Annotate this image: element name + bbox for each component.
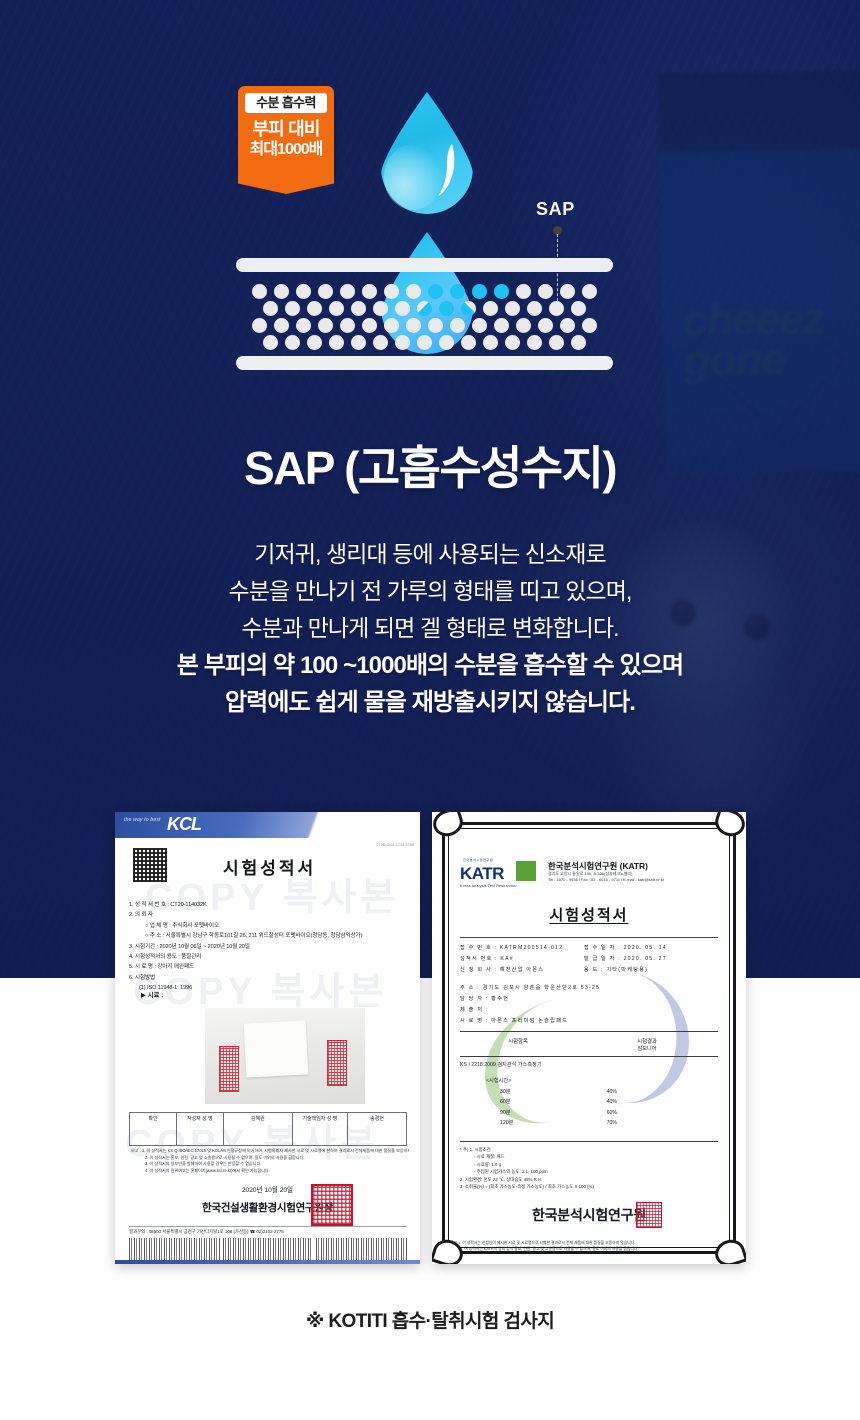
kcl-field: 6. 시험방법 bbox=[129, 973, 415, 983]
katr-footer: 비고 1. 이 성적서는 신청인이 제시한 시료 및 시료명으로 시험한 결과로… bbox=[450, 1240, 728, 1252]
kcl-note-line: 비고 : 1. 이 성적서는 KS Q ISO/IEC 17025 및 KOLA… bbox=[131, 1148, 409, 1155]
kcl-footer: 결과문의 : 08503 서울특별시 금천구 가산디지털1로 108 (가산동)… bbox=[129, 1226, 407, 1235]
katr-doc-title: 시험성적서 bbox=[460, 904, 718, 925]
sap-particle-dot bbox=[538, 318, 553, 333]
katr-signature: 한국분석시험연구원 bbox=[460, 1205, 718, 1225]
sap-particle-grid bbox=[252, 284, 604, 350]
kcl-sample-label: ▶ 시료 : bbox=[141, 990, 163, 999]
sap-particle-dot bbox=[384, 318, 399, 333]
result-value: 40% bbox=[607, 1087, 718, 1098]
sap-particle-row bbox=[252, 318, 604, 332]
time-header-label: <시험시간> bbox=[486, 1076, 607, 1087]
results-analyte: 암모니아 bbox=[576, 1045, 718, 1052]
katr-key-values: 접 수 번 호 : KATRM200514-012 접 수 일 자 : 2020… bbox=[460, 937, 718, 976]
katr-detail-row: 담 당 자 : 황수현 bbox=[460, 994, 718, 1005]
katr-kv-left: 신 청 회 사 : 해전산업 아몬스 bbox=[460, 965, 584, 976]
table-row: 90분 60% bbox=[486, 1108, 718, 1119]
katr-results-header: 시험항목 시험결과 bbox=[460, 1037, 718, 1045]
kcl-field: 3. 시험기간 : 2020년 10월 06일 ~ 2020년 10월 20일 bbox=[129, 942, 415, 952]
sap-particle-dot bbox=[516, 284, 531, 299]
sap-particle-dot bbox=[373, 335, 388, 350]
results-time-header: <시험시간> bbox=[486, 1076, 718, 1087]
katr-detail: 제 출 처 : bbox=[460, 1005, 718, 1016]
kcl-tagline: the way to best bbox=[124, 817, 161, 823]
sap-particle-dot bbox=[571, 335, 586, 350]
kcl-sample-photo bbox=[205, 1008, 365, 1104]
red-stamp-icon bbox=[219, 1046, 239, 1092]
kcl-field: 1. 성 적 서 번 호 : CT20-114032K bbox=[129, 900, 415, 910]
sap-particle-dot bbox=[494, 284, 509, 299]
sap-particle-dot bbox=[450, 284, 465, 299]
katr-kv-left: 접 수 번 호 : KATRM200514-012 bbox=[460, 943, 584, 954]
sap-particle-dot bbox=[252, 318, 267, 333]
katr-results-subheader: 암모니아 bbox=[460, 1045, 718, 1052]
description-block: 기저귀, 생리대 등에 사용되는 신소재로 수분을 만나기 전 가루의 형태를 … bbox=[0, 536, 860, 721]
sap-particle-dot bbox=[329, 335, 344, 350]
sap-particle-dot bbox=[296, 284, 311, 299]
sap-particle-dot bbox=[461, 301, 476, 316]
sap-particle-dot bbox=[340, 318, 355, 333]
table-cell: 작성자 성 명 bbox=[177, 1113, 224, 1145]
result-value: 60% bbox=[607, 1108, 718, 1119]
sap-particle-dot bbox=[285, 335, 300, 350]
pad-bottom-layer bbox=[236, 356, 613, 370]
katr-kv-row: 접 수 번 호 : KATRM200514-012 접 수 일 자 : 2020… bbox=[460, 943, 718, 954]
table-row: 120분 70% bbox=[486, 1118, 718, 1129]
sap-particle-dot bbox=[571, 301, 586, 316]
katr-logo-square-icon bbox=[516, 861, 536, 881]
sap-particle-dot bbox=[527, 301, 542, 316]
result-time: 120분 bbox=[486, 1118, 607, 1129]
sap-particle-dot bbox=[362, 318, 377, 333]
kcl-doc-code: 0798-0201-1734-5788 bbox=[377, 843, 414, 847]
katr-divider bbox=[460, 1031, 718, 1032]
sap-particle-dot bbox=[450, 318, 465, 333]
katr-note-line: 3. 소취율(%) = (최초 가스농도-측정 가스농도) / 최초 가스농도 … bbox=[460, 1183, 718, 1191]
badge-line-2: 최대1000배 bbox=[238, 140, 334, 159]
kcl-signature-table: 확인 작성자 성 명 김혜원 기술책임자 성 명 송경현 bbox=[129, 1112, 407, 1146]
katr-kv-right: 발 급 일 자 : 2020. 05. 27 bbox=[584, 954, 718, 965]
sap-particle-dot bbox=[582, 318, 597, 333]
sap-particle-dot bbox=[351, 301, 366, 316]
badge-top-label: 수분 흡수력 bbox=[245, 93, 327, 113]
sap-particle-dot bbox=[516, 318, 531, 333]
sap-particle-dot bbox=[461, 335, 476, 350]
kcl-bottom-bar bbox=[115, 1260, 420, 1264]
katr-detail-row: 시 료 명 : 아몬스 프리미엄 논슬립패드 bbox=[460, 1016, 718, 1027]
katr-detail-values: 주 소 : 경기도 김포시 양촌읍 학운산단2로 53-25 담 당 자 : 황… bbox=[460, 983, 718, 1027]
katr-kv-row: 신 청 회 사 : 해전산업 아몬스 용 도 : 기타(마케팅용) bbox=[460, 965, 718, 976]
katr-footer-line-2: 2. 이 성적서는 KATR의 동의 없이 홍보, 선전, 광고 및 소송용으로… bbox=[450, 1246, 728, 1252]
sap-particle-dot bbox=[406, 284, 421, 299]
barcode-icon bbox=[129, 1238, 220, 1260]
results-sub-blank bbox=[460, 1045, 576, 1052]
katr-address-line-2: Tel : 1670 - 9936 l Fax : 02 - 6016 - 97… bbox=[548, 877, 664, 883]
barcode-icon bbox=[223, 1238, 314, 1260]
sap-particle-row bbox=[252, 301, 604, 315]
sap-particle-dot bbox=[252, 284, 267, 299]
katr-detail-row: 제 출 처 : bbox=[460, 1005, 718, 1016]
results-col-result: 시험결과 bbox=[576, 1037, 718, 1045]
katr-logo-row: 한국분석시험연구원 KATR Korea Analysis Test Resea… bbox=[460, 858, 718, 894]
kcl-notes: 비고 : 1. 이 성적서는 KS Q ISO/IEC 17025 및 KOLA… bbox=[131, 1148, 409, 1174]
katr-kv-row: 성적서 번호 : KA# 발 급 일 자 : 2020. 05. 27 bbox=[460, 954, 718, 965]
sap-particle-dot bbox=[406, 318, 421, 333]
table-cell: 김혜원 bbox=[224, 1113, 293, 1145]
sap-particle-row bbox=[252, 335, 604, 349]
kcl-note-line: 4. 이 성적서의 진위여부는 홈페이지(www.kcl.re.kr)에서 확인… bbox=[131, 1168, 409, 1175]
description-line-5: 압력에도 쉽게 물을 재방출시키지 않습니다. bbox=[0, 684, 860, 721]
kcl-barcode-strip bbox=[129, 1238, 407, 1260]
sap-particle-dot bbox=[560, 284, 575, 299]
page-title: SAP (고흡수성수지) bbox=[0, 432, 860, 498]
sap-particle-dot bbox=[318, 284, 333, 299]
certificates-caption: ※ KOTITI 흡수·탈취시험 검사지 bbox=[0, 1306, 860, 1333]
result-time: 90분 bbox=[486, 1108, 607, 1119]
katr-note-line: - 주입된 시험가스의 농도: 2 L, 100 ppm bbox=[460, 1168, 718, 1176]
sap-particle-dot bbox=[340, 284, 355, 299]
sap-particle-dot bbox=[549, 301, 564, 316]
katr-divider bbox=[460, 1056, 718, 1057]
sap-particle-dot bbox=[417, 301, 432, 316]
qr-code-icon bbox=[133, 848, 167, 882]
katr-detail: 시 료 명 : 아몬스 프리미엄 논슬립패드 bbox=[460, 1016, 718, 1027]
kcl-field: 2. 의 뢰 자 bbox=[129, 910, 415, 920]
katr-content: 한국분석시험연구원 KATR Korea Analysis Test Resea… bbox=[460, 858, 718, 1226]
sap-particle-dot bbox=[494, 318, 509, 333]
katr-kv-right: 용 도 : 기타(마케팅용) bbox=[584, 965, 718, 976]
product-detail-page: cheeezgone 수분 흡수력 부피 대비 최대1000배 SAP SAP … bbox=[0, 0, 860, 1420]
kcl-note-line: 2. 이 성적서는 홍보, 선전, 광고 및 소송용으로 사용될 수 없으며, … bbox=[131, 1155, 409, 1162]
sap-particle-dot bbox=[483, 335, 498, 350]
kcl-doc-title: 시험성적서 bbox=[223, 854, 316, 879]
kcl-logo: KCL bbox=[167, 814, 201, 835]
sap-particle-dot bbox=[318, 318, 333, 333]
result-time: 30분 bbox=[486, 1087, 607, 1098]
sap-particle-dot bbox=[395, 301, 410, 316]
katr-detail: 담 당 자 : 황수현 bbox=[460, 994, 718, 1005]
sample-pad-image bbox=[244, 1020, 309, 1077]
katr-note-line: 2. 시험환경: 온도 23 ℃, 상대습도 45% R·H bbox=[460, 1176, 718, 1184]
katr-logo-korean: 한국분석시험연구원 bbox=[463, 858, 493, 862]
table-row: 60분 40% bbox=[486, 1097, 718, 1108]
kcl-issue-date: 2020년 10월 20일 bbox=[115, 1184, 420, 1194]
kcl-organization: 한국건설생활환경시험연구원장 bbox=[115, 1200, 420, 1215]
kcl-header-band: the way to best KCL bbox=[115, 812, 420, 838]
sap-particle-dot bbox=[582, 284, 597, 299]
official-seal-icon bbox=[636, 1202, 662, 1228]
katr-note-line: - 시료 재질: 패드 bbox=[460, 1153, 718, 1161]
kcl-field: 5. 시 료 명 : 강아지 애완패드 bbox=[129, 962, 415, 972]
sap-particle-dot bbox=[505, 335, 520, 350]
sap-particle-dot bbox=[362, 284, 377, 299]
sap-particle-dot bbox=[373, 301, 388, 316]
sap-particle-dot bbox=[285, 301, 300, 316]
sap-particle-dot bbox=[439, 335, 454, 350]
katr-ornamental-frame: 한국분석시험연구원 KATR Korea Analysis Test Resea… bbox=[442, 822, 736, 1254]
kcl-note-line: 3. 이 성적서의 일부만을 발췌하여 사용할 경우는 반응할 수 없습니다. bbox=[131, 1161, 409, 1168]
official-seal-icon bbox=[311, 1184, 353, 1226]
sap-particle-dot bbox=[560, 318, 575, 333]
description-line-2: 수분을 만나기 전 가루의 형태를 띠고 있으며, bbox=[0, 573, 860, 610]
sap-particle-dot bbox=[538, 284, 553, 299]
sap-particle-dot bbox=[395, 335, 410, 350]
table-row: 30분 40% bbox=[486, 1087, 718, 1098]
sap-particle-dot bbox=[483, 301, 498, 316]
value-header-blank bbox=[607, 1076, 718, 1087]
result-value: 40% bbox=[607, 1097, 718, 1108]
kcl-field: ○ 업 체 명 : 주식회사 포펫바이오 bbox=[129, 921, 415, 931]
table-cell: 송경현 bbox=[348, 1113, 406, 1145]
katr-results-table: <시험시간> 30분 40% 60분 40% 90분 60% bbox=[460, 1076, 718, 1129]
sap-particle-dot bbox=[417, 335, 432, 350]
sap-particle-dot bbox=[549, 335, 564, 350]
kcl-field: 4. 시험성적서의 용도 : 품질관리 bbox=[129, 952, 415, 962]
sap-particle-dot bbox=[527, 335, 542, 350]
kcl-field: (1) ISO 11948-1: 1996 bbox=[129, 983, 415, 993]
katr-note-line: * 주) 1. 시험조건 bbox=[460, 1146, 718, 1154]
result-time: 60분 bbox=[486, 1097, 607, 1108]
katr-logo-subtitle: Korea Analysis Test Researcher bbox=[460, 884, 517, 888]
katr-detail-row: 주 소 : 경기도 김포시 양촌읍 학운산단2로 53-25 bbox=[460, 983, 718, 994]
sap-particle-dot bbox=[307, 301, 322, 316]
sap-particle-dot bbox=[472, 284, 487, 299]
pad-top-layer bbox=[236, 258, 613, 272]
barcode-icon bbox=[316, 1238, 407, 1260]
sap-particle-dot bbox=[505, 301, 520, 316]
result-value: 70% bbox=[607, 1118, 718, 1129]
sap-particle-dot bbox=[428, 284, 443, 299]
sap-particle-dot bbox=[274, 318, 289, 333]
katr-detail: 주 소 : 경기도 김포시 양촌읍 학운산단2로 53-25 bbox=[460, 983, 718, 994]
sap-particle-dot bbox=[263, 301, 278, 316]
katr-address: 경기도 고양시 통일로 140, A-336(삼송테크노밸리) Tel : 16… bbox=[548, 871, 664, 884]
sap-particle-dot bbox=[296, 318, 311, 333]
droplet-highlight bbox=[384, 144, 442, 210]
sap-particle-dot bbox=[307, 335, 322, 350]
red-stamp-icon bbox=[327, 1040, 347, 1086]
certificate-kcl[interactable]: the way to best KCL 0798-0201-1734-5788 … bbox=[115, 812, 420, 1264]
katr-note-line: - 시료량: 1.0 g bbox=[460, 1161, 718, 1169]
sap-particle-dot bbox=[263, 335, 278, 350]
katr-signature-text: 한국분석시험연구원 bbox=[532, 1207, 646, 1223]
sap-particle-row bbox=[252, 284, 604, 298]
description-line-4: 본 부피의 약 100 ~1000배의 수분을 흡수할 수 있으며 bbox=[0, 647, 860, 684]
sap-pointer-label: SAP bbox=[536, 199, 575, 220]
katr-kv-left: 성적서 번호 : KA# bbox=[460, 954, 584, 965]
katr-logo: KATR bbox=[460, 864, 504, 884]
table-cell: 확인 bbox=[130, 1113, 177, 1145]
table-cell: 기술책임자 성 명 bbox=[293, 1113, 348, 1145]
sap-particle-dot bbox=[472, 318, 487, 333]
kcl-field: ○ 주 소 : 서울특별시 강남구 학동로101길 26, 211 위드잘성터 … bbox=[129, 931, 415, 941]
kcl-field-list: 1. 성 적 서 번 호 : CT20-114032K 2. 의 뢰 자 ○ 업… bbox=[129, 900, 415, 994]
badge-line-1: 부피 대비 bbox=[238, 119, 334, 140]
results-col-item: 시험항목 bbox=[460, 1037, 576, 1045]
certificate-katr[interactable]: 한국분석시험연구원 KATR Korea Analysis Test Resea… bbox=[432, 812, 746, 1264]
katr-notes: * 주) 1. 시험조건 - 시료 재질: 패드 - 시료량: 1.0 g - … bbox=[460, 1141, 718, 1192]
absorption-badge: 수분 흡수력 부피 대비 최대1000배 bbox=[238, 86, 334, 176]
sap-particle-dot bbox=[274, 284, 289, 299]
sap-particle-dot bbox=[428, 318, 443, 333]
sap-particle-dot bbox=[329, 301, 344, 316]
sap-particle-dot bbox=[439, 301, 454, 316]
description-line-3: 수분과 만나게 되면 겔 형태로 변화합니다. bbox=[0, 610, 860, 647]
katr-kv-right: 접 수 일 자 : 2020. 05. 14 bbox=[584, 943, 718, 954]
sap-particle-dot bbox=[351, 335, 366, 350]
description-line-1: 기저귀, 생리대 등에 사용되는 신소재로 bbox=[0, 536, 860, 573]
sap-particle-dot bbox=[384, 284, 399, 299]
katr-test-method: KS I 2218:2009 검지관식 가스측정기 bbox=[460, 1061, 718, 1068]
